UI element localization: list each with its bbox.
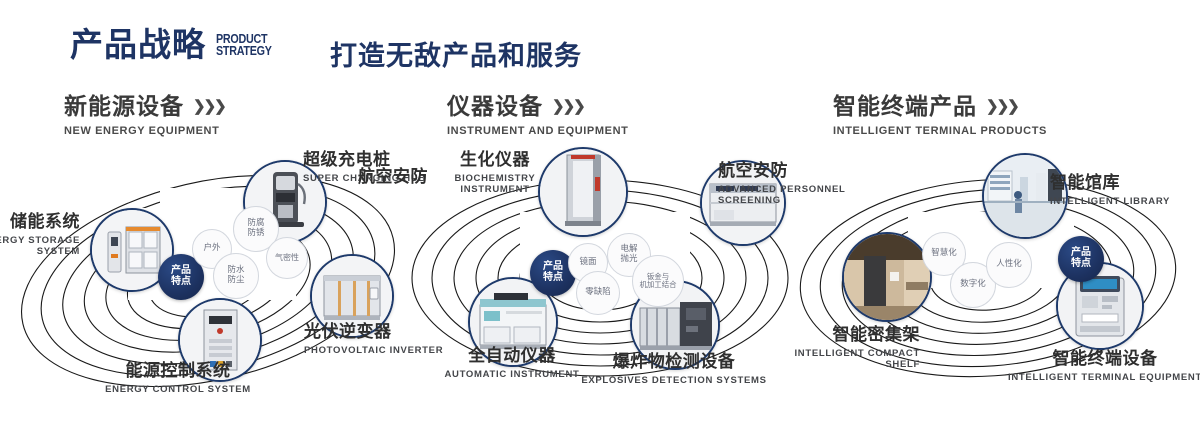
section-title-en: INTELLIGENT TERMINAL PRODUCTS: [833, 125, 1047, 137]
caption-cn: 智能终端设备: [995, 350, 1200, 370]
chevron-right-icon: ❯❯❯: [986, 99, 1018, 116]
cluster-intelligent-terminal: 产品 特点 智慧化 数字化 人性化 智能馆库 INTELLIGENT LIBRA…: [790, 150, 1190, 412]
caption-cn: 全自动仪器: [422, 347, 602, 367]
caption-cn: 智能密集架: [730, 326, 920, 346]
compact-shelf-icon: [844, 234, 930, 320]
feature-bubble-airtightness: 气密性: [266, 237, 308, 279]
feature-text: 户外: [203, 244, 220, 254]
badge-line2: 特点: [543, 273, 563, 284]
section-title-cn: 仪器设备 ❯❯❯: [447, 95, 628, 120]
caption-intelligent-compact-shelf: 智能密集架 INTELLIGENT COMPACTSHELF: [730, 326, 920, 371]
feature-text: 抛光: [620, 255, 637, 265]
caption-en: AUTOMATIC INSTRUMENT: [422, 369, 602, 381]
page-title: 产品战略: [70, 28, 206, 61]
feature-text: 气密性: [275, 254, 299, 263]
caption-cn: 智能馆库: [1050, 174, 1200, 194]
section-title-cn-text: 智能终端产品: [833, 95, 977, 120]
caption-en: INTELLIGENT COMPACTSHELF: [730, 348, 920, 372]
brand-subtitle: PRODUCT STRATEGY: [216, 33, 272, 62]
section-title-cn: 新能源设备 ❯❯❯: [64, 95, 225, 120]
feature-bubble-sheetmetal-machining: 钣金与 机加工结合: [632, 255, 684, 307]
section-title-cn-text: 新能源设备: [64, 95, 184, 120]
caption-biochemistry-instrument: 生化仪器 BIOCHEMISTRYINSTRUMENT: [425, 151, 565, 196]
caption-energy-control-system: 能源控制系统 ENERGY CONTROL SYSTEM: [78, 362, 278, 395]
caption-intelligent-library: 智能馆库 INTELLIGENT LIBRARY: [1050, 174, 1200, 207]
cluster-instrument: 产品 特点 镜面 电解 抛光 零缺陷 钣金与 机加工结合 航空安防 生化仪器 B…: [400, 150, 800, 412]
chevron-right-icon: ❯❯❯: [552, 99, 584, 116]
brand-subtitle-line2: STRATEGY: [216, 45, 272, 58]
feature-text: 数字化: [960, 280, 986, 290]
feature-bubble-zero-defect: 零缺陷: [576, 271, 620, 315]
brand-subtitle-line1: PRODUCT: [216, 33, 272, 46]
feature-text: 零缺陷: [585, 288, 611, 298]
chevron-right-icon: ❯❯❯: [193, 99, 225, 116]
product-strategy-infographic: 产品战略 PRODUCT STRATEGY 打造无敌产品和服务 新能源设备 ❯❯…: [0, 0, 1200, 422]
feature-text: 防尘: [227, 276, 244, 286]
feature-text: 人性化: [996, 260, 1022, 270]
page-header: 产品战略 PRODUCT STRATEGY 打造无敌产品和服务: [0, 0, 1200, 86]
feature-text: 智慧化: [931, 249, 957, 259]
caption-cn: 航空安防: [310, 168, 428, 188]
feature-text: 防锈: [247, 229, 264, 239]
section-title-intelligent: 智能终端产品 ❯❯❯ INTELLIGENT TERMINAL PRODUCTS: [833, 95, 1047, 137]
node-intelligent-compact-shelf[interactable]: [842, 232, 932, 322]
section-title-cn-text: 仪器设备: [447, 95, 543, 120]
brand-lockup: 产品战略 PRODUCT STRATEGY: [70, 28, 281, 61]
cluster-new-energy: 产品 特点 户外 防腐 防锈 防水 防尘 气密性 储能系统 ENERGY STO…: [10, 150, 410, 412]
caption-automatic-instrument: 全自动仪器 AUTOMATIC INSTRUMENT: [422, 347, 602, 380]
product-feature-badge[interactable]: 产品 特点: [1058, 236, 1104, 282]
caption-en: INTELLIGENT LIBRARY: [1050, 196, 1200, 208]
badge-line2: 特点: [1071, 259, 1091, 270]
caption-en: EXPLOSIVES DETECTION SYSTEMS: [578, 375, 770, 387]
feature-text: 镜面: [579, 258, 596, 268]
caption-intelligent-terminal-equipment: 智能终端设备 INTELLIGENT TERMINAL EQUIPMENT: [995, 350, 1200, 383]
caption-cn: 能源控制系统: [78, 362, 278, 382]
feature-bubble-humanized: 人性化: [986, 242, 1032, 288]
headline: 打造无敌产品和服务: [330, 34, 582, 73]
caption-cn: 生化仪器: [425, 151, 565, 171]
caption-cn: 储能系统: [0, 213, 80, 233]
feature-text: 机加工结合: [640, 281, 677, 289]
section-title-en: INSTRUMENT AND EQUIPMENT: [447, 125, 628, 137]
caption-en: BIOCHEMISTRYINSTRUMENT: [425, 173, 565, 197]
caption-energy-storage-system: 储能系统 ENERGY STORAGESYSTEM: [0, 213, 80, 258]
section-title-cn: 智能终端产品 ❯❯❯: [833, 95, 1047, 120]
badge-line2: 特点: [171, 277, 191, 288]
section-title-instrument: 仪器设备 ❯❯❯ INSTRUMENT AND EQUIPMENT: [447, 95, 628, 137]
section-title-new-energy: 新能源设备 ❯❯❯ NEW ENERGY EQUIPMENT: [64, 95, 225, 137]
caption-en: ENERGY STORAGESYSTEM: [0, 235, 80, 259]
section-title-en: NEW ENERGY EQUIPMENT: [64, 125, 225, 137]
caption-en: ENERGY CONTROL SYSTEM: [78, 384, 278, 396]
caption-en: INTELLIGENT TERMINAL EQUIPMENT: [995, 372, 1200, 384]
feature-bubble-waterproof: 防水 防尘: [213, 253, 259, 299]
caption-aviation-security-left: 航空安防: [310, 168, 428, 188]
